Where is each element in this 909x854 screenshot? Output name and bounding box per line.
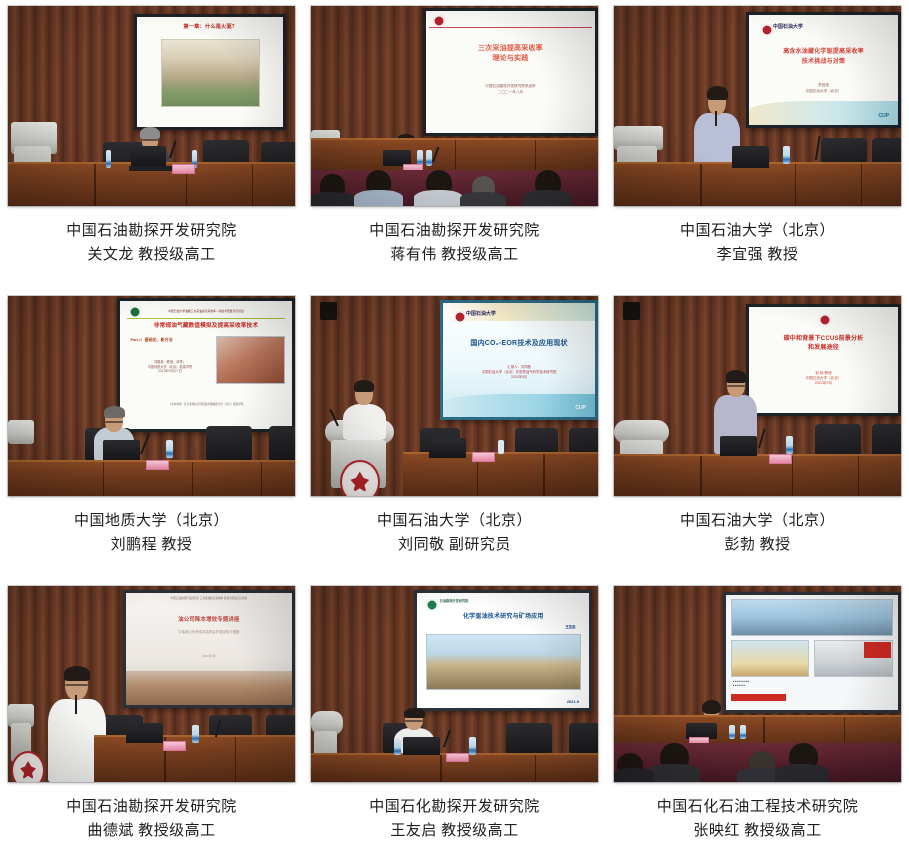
water-bottle bbox=[166, 440, 173, 458]
slide-title: 碳中和背景下CCUS前景分析和发展途径 bbox=[749, 335, 898, 354]
slide-subtitle: 刘鹏程（教授、博导）中国地质大学（北京）能源学院2021年09月17日 bbox=[130, 360, 209, 374]
photo-caption-5: 中国石油大学（北京） 刘同敬 副研究员 bbox=[377, 509, 532, 558]
head-table bbox=[614, 454, 901, 496]
gallery-cell-4[interactable]: 中国石油大学油藏三次采油提高采收率—新技术研发与培训班 非常规油气藏数值模拟及提… bbox=[0, 290, 303, 580]
photo-caption-7: 中国石油勘探开发研究院 曲德斌 教授级高工 bbox=[66, 795, 237, 844]
photo-caption-6: 中国石油大学（北京） 彭勃 教授 bbox=[680, 509, 835, 558]
slide-diagram bbox=[161, 39, 260, 107]
caption-speaker: 刘同敬 副研究员 bbox=[377, 533, 532, 557]
emblem-icon bbox=[340, 460, 380, 496]
chair bbox=[206, 426, 252, 460]
gallery-cell-1[interactable]: 第一章：什么是火驱？ bbox=[0, 0, 303, 290]
slide-title: 三次采油提高采收率理论与实践 bbox=[426, 44, 595, 65]
projection-screen: 中国石油大学 高含水油藏化学驱提高采收率技术挑战与对策 李宜强中国石油大学（北京… bbox=[746, 12, 901, 128]
slide-brand: 中国石油大学 bbox=[466, 311, 595, 319]
gallery-cell-3[interactable]: 中国石油大学 高含水油藏化学驱提高采收率技术挑战与对策 李宜强中国石油大学（北京… bbox=[606, 0, 909, 290]
slide-date: 2021年9月 bbox=[126, 654, 292, 658]
slide-photo bbox=[126, 671, 292, 704]
slide-title: 国内CO₂-EOR技术及应用现状 bbox=[443, 339, 595, 348]
caption-speaker: 彭勃 教授 bbox=[680, 533, 835, 557]
caption-speaker: 王友启 教授级高工 bbox=[369, 819, 540, 843]
projection-screen: 中国石油大学油藏三次采油提高采收率—新技术研发与培训班 非常规油气藏数值模拟及提… bbox=[117, 298, 295, 432]
slide-subtitle: 汇报人：刘同敬中国石油大学（北京）非常规油气科学技术研究院2021年9月 bbox=[443, 365, 595, 380]
slide-photo-left bbox=[731, 640, 808, 677]
laptop bbox=[429, 438, 466, 458]
projection-screen: 石油勘探开发研究院 化学驱油技术研究与矿场应用 王友启 2021.9 bbox=[414, 590, 592, 712]
caption-organization: 中国石油大学（北京） bbox=[377, 509, 532, 533]
lecture-photo-5[interactable]: 中国石油大学 国内CO₂-EOR技术及应用现状 汇报人：刘同敬中国石油大学（北京… bbox=[311, 296, 598, 496]
slide-part-label: Part-I：基础论、新方法 bbox=[130, 337, 172, 343]
photo-caption-1: 中国石油勘探开发研究院 关文龙 教授级高工 bbox=[66, 219, 237, 268]
laptop bbox=[131, 146, 165, 166]
photo-caption-4: 中国地质大学（北京） 刘鹏程 教授 bbox=[74, 509, 229, 558]
lecture-photo-4[interactable]: 中国石油大学油藏三次采油提高采收率—新技术研发与培训班 非常规油气藏数值模拟及提… bbox=[8, 296, 295, 496]
head-table bbox=[614, 162, 901, 206]
projection-screen: 第一章：什么是火驱？ bbox=[134, 14, 286, 130]
chair bbox=[872, 424, 901, 458]
projection-screen: 中国石油大学 国内CO₂-EOR技术及应用现状 汇报人：刘同敬中国石油大学（北京… bbox=[440, 300, 598, 420]
water-bottle bbox=[192, 725, 199, 743]
photo-caption-8: 中国石化勘探开发研究院 王友启 教授级高工 bbox=[369, 795, 540, 844]
slide-subtitle: 中国石油勘探开发研究院采油所二〇二一年八月 bbox=[426, 84, 595, 95]
water-bottle bbox=[729, 725, 735, 739]
lecture-photo-7[interactable]: 中国石油勘探开发研究院 三次采油提高采收率 新技术研发与培训班 油公司降本增效专… bbox=[8, 586, 295, 782]
slide-banner: 中国石油勘探开发研究院 三次采油提高采收率 新技术研发与培训班 bbox=[126, 597, 292, 601]
gallery-cell-9[interactable]: ■ ■ ■ ■ ■ ■ ■ ■■ ■ ■ ■ ■ ■ bbox=[606, 580, 909, 854]
slide-footnote: （主办单位）北京永海信息导院及中国地质大学（北京）能源学院 bbox=[120, 403, 292, 407]
slide-title: 高含水油藏化学驱提高采收率技术挑战与对策 bbox=[749, 48, 898, 67]
water-bottle bbox=[498, 440, 504, 454]
water-bottle bbox=[469, 737, 476, 755]
slide-bullets: ■ ■ ■ ■ ■ ■ ■ ■■ ■ ■ ■ ■ ■ bbox=[733, 680, 749, 687]
laptop bbox=[103, 440, 140, 460]
speaker-person bbox=[343, 380, 386, 440]
slide-callout bbox=[864, 642, 892, 658]
caption-speaker: 蒋有伟 教授级高工 bbox=[369, 243, 540, 267]
nameplate bbox=[146, 460, 169, 470]
photo-caption-2: 中国石油勘探开发研究院 蒋有伟 教授级高工 bbox=[369, 219, 540, 268]
lecture-photo-2[interactable]: 三次采油提高采收率理论与实践 中国石油勘探开发研究院采油所二〇二一年八月 bbox=[311, 6, 598, 206]
nameplate bbox=[172, 164, 195, 174]
head-table bbox=[311, 138, 598, 172]
caption-organization: 中国石油勘探开发研究院 bbox=[66, 219, 237, 243]
water-bottle bbox=[740, 725, 746, 739]
wall-speaker-box bbox=[320, 302, 337, 320]
laptop bbox=[403, 737, 440, 755]
caption-organization: 中国石化石油工程技术研究院 bbox=[657, 795, 859, 819]
slide-title: 第一章：什么是火驱？ bbox=[137, 24, 283, 31]
podium bbox=[8, 420, 34, 444]
caption-organization: 中国石油大学（北京） bbox=[680, 509, 835, 533]
projection-screen: 中国石油勘探开发研究院 三次采油提高采收率 新技术研发与培训班 油公司降本增效专… bbox=[123, 590, 295, 708]
water-bottle bbox=[394, 739, 400, 755]
projection-screen: 三次采油提高采收率理论与实践 中国石油勘探开发研究院采油所二〇二一年八月 bbox=[423, 8, 598, 136]
chair bbox=[269, 426, 295, 460]
slide-subtitle: 中油某公司低成本高效益开发经验与借鉴 bbox=[126, 630, 292, 635]
gallery-cell-5[interactable]: 中国石油大学 国内CO₂-EOR技术及应用现状 汇报人：刘同敬中国石油大学（北京… bbox=[303, 290, 606, 580]
gallery-cell-2[interactable]: 三次采油提高采收率理论与实践 中国石油勘探开发研究院采油所二〇二一年八月 bbox=[303, 0, 606, 290]
caption-speaker: 曲德斌 教授级高工 bbox=[66, 819, 237, 843]
lecture-photo-1[interactable]: 第一章：什么是火驱？ bbox=[8, 6, 295, 206]
lecture-photo-3[interactable]: 中国石油大学 高含水油藏化学驱提高采收率技术挑战与对策 李宜强中国石油大学（北京… bbox=[614, 6, 901, 206]
wall-speaker-box bbox=[623, 302, 640, 320]
gallery-cell-6[interactable]: 碳中和背景下CCUS前景分析和发展途径 彭 勃 教授中国石油大学（北京）2021… bbox=[606, 290, 909, 580]
caption-speaker: 张映红 教授级高工 bbox=[657, 819, 859, 843]
laptop bbox=[732, 146, 769, 168]
caption-organization: 中国石油大学（北京） bbox=[680, 219, 835, 243]
lecture-photo-6[interactable]: 碳中和背景下CCUS前景分析和发展途径 彭 勃 教授中国石油大学（北京）2021… bbox=[614, 296, 901, 496]
nameplate bbox=[163, 741, 186, 751]
gallery-cell-7[interactable]: 中国石油勘探开发研究院 三次采油提高采收率 新技术研发与培训班 油公司降本增效专… bbox=[0, 580, 303, 854]
slide-brandmark: CUP bbox=[575, 405, 586, 413]
photo-caption-9: 中国石化石油工程技术研究院 张映红 教授级高工 bbox=[657, 795, 859, 844]
slide-presenter: 王友启 bbox=[565, 625, 575, 630]
caption-speaker: 关文龙 教授级高工 bbox=[66, 243, 237, 267]
photo-gallery: 第一章：什么是火驱？ bbox=[0, 0, 909, 854]
slide-brand: 石油勘探开发研究院 bbox=[440, 599, 590, 604]
water-bottle bbox=[426, 150, 432, 166]
chair bbox=[506, 723, 552, 752]
slide-subtitle: 彭 勃 教授中国石油大学（北京）2021年9月 bbox=[749, 371, 898, 387]
slide-title: 油公司降本增效专题讲座 bbox=[126, 617, 292, 624]
slide-title: 化学驱油技术研究与矿场应用 bbox=[417, 613, 589, 621]
nameplate bbox=[472, 452, 495, 462]
slide-brandmark: CUP bbox=[878, 113, 889, 121]
laptop bbox=[720, 436, 757, 456]
slide-photo bbox=[216, 336, 285, 385]
slide-hero-photo bbox=[731, 599, 893, 636]
slide-subtitle: 李宜强中国石油大学（北京） bbox=[749, 83, 898, 94]
slide-question-bar bbox=[731, 694, 786, 701]
caption-speaker: 刘鹏程 教授 bbox=[74, 533, 229, 557]
slide-banner: 中国石油大学油藏三次采油提高采收率—新技术研发与培训班 bbox=[120, 309, 292, 313]
caption-organization: 中国石化勘探开发研究院 bbox=[369, 795, 540, 819]
caption-organization: 中国地质大学（北京） bbox=[74, 509, 229, 533]
caption-speaker: 李宜强 教授 bbox=[680, 243, 835, 267]
head-table bbox=[403, 452, 598, 496]
photo-caption-3: 中国石油大学（北京） 李宜强 教授 bbox=[680, 219, 835, 268]
nameplate bbox=[769, 454, 792, 464]
lecture-photo-8[interactable]: 石油勘探开发研究院 化学驱油技术研究与矿场应用 王友启 2021.9 bbox=[311, 586, 598, 782]
slide-photo bbox=[426, 634, 581, 689]
projection-screen: 碳中和背景下CCUS前景分析和发展途径 彭 勃 教授中国石油大学（北京）2021… bbox=[746, 304, 901, 416]
slide-brand: 中国石油大学 bbox=[773, 24, 898, 32]
slide-date: 2021.9 bbox=[567, 699, 579, 705]
water-bottle bbox=[786, 436, 793, 454]
lecture-photo-9[interactable]: ■ ■ ■ ■ ■ ■ ■ ■■ ■ ■ ■ ■ ■ bbox=[614, 586, 901, 782]
projection-screen: ■ ■ ■ ■ ■ ■ ■ ■■ ■ ■ ■ ■ ■ bbox=[723, 592, 901, 714]
water-bottle bbox=[783, 146, 790, 164]
water-bottle bbox=[106, 150, 112, 168]
caption-organization: 中国石油勘探开发研究院 bbox=[66, 795, 237, 819]
caption-organization: 中国石油勘探开发研究院 bbox=[369, 219, 540, 243]
gallery-cell-8[interactable]: 石油勘探开发研究院 化学驱油技术研究与矿场应用 王友启 2021.9 bbox=[303, 580, 606, 854]
nameplate bbox=[446, 753, 469, 763]
chair bbox=[569, 723, 598, 752]
chair bbox=[815, 424, 861, 458]
slide-title: 非常规油气藏数值模拟及提高采收率技术 bbox=[120, 323, 292, 331]
laptop bbox=[126, 723, 163, 743]
